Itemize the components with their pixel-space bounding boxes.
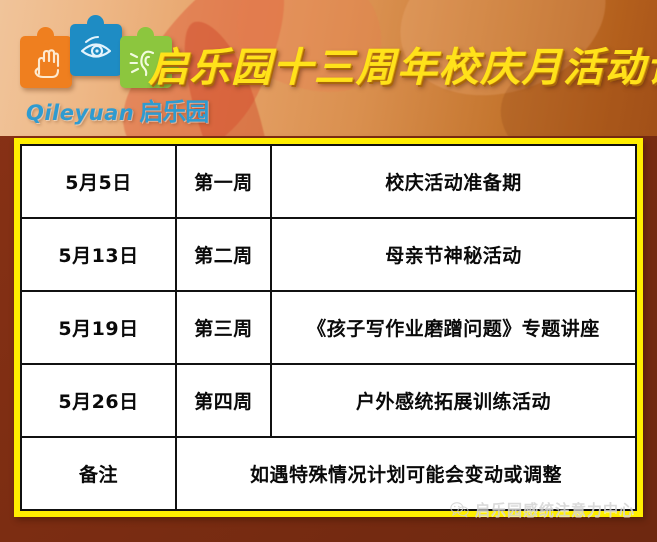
brand-logo: Qileyuan启乐园 xyxy=(8,14,188,126)
table-row: 5月13日 第二周 母亲节神秘活动 xyxy=(21,218,636,291)
hand-icon xyxy=(20,36,72,88)
cell-week: 第四周 xyxy=(176,364,271,437)
logo-wordmark: Qileyuan启乐园 xyxy=(26,92,208,127)
cell-date: 5月5日 xyxy=(21,145,176,218)
header-banner: Qileyuan启乐园 启乐园十三周年校庆月活动计划 xyxy=(0,0,657,136)
eye-icon xyxy=(70,24,122,76)
cell-week: 第三周 xyxy=(176,291,271,364)
cell-week: 第一周 xyxy=(176,145,271,218)
puzzle-piece-ear xyxy=(120,36,172,88)
puzzle-piece-hand xyxy=(20,36,72,88)
logo-latin-name: Qileyuan xyxy=(26,101,134,125)
cell-date: 5月13日 xyxy=(21,218,176,291)
table-row: 5月26日 第四周 户外感统拓展训练活动 xyxy=(21,364,636,437)
cell-week: 第二周 xyxy=(176,218,271,291)
cell-activity: 母亲节神秘活动 xyxy=(271,218,636,291)
cell-note-text: 如遇特殊情况计划可能会变动或调整 xyxy=(176,437,636,510)
table-row: 5月5日 第一周 校庆活动准备期 xyxy=(21,145,636,218)
puzzle-piece-eye xyxy=(70,24,122,76)
schedule-table: 5月5日 第一周 校庆活动准备期 5月13日 第二周 母亲节神秘活动 5月19日… xyxy=(20,144,637,511)
cell-date: 5月26日 xyxy=(21,364,176,437)
page-title: 启乐园十三周年校庆月活动计划 xyxy=(148,32,653,96)
cell-note-label: 备注 xyxy=(21,437,176,510)
cell-activity: 户外感统拓展训练活动 xyxy=(271,364,636,437)
table-row-note: 备注 如遇特殊情况计划可能会变动或调整 xyxy=(21,437,636,510)
cell-activity: 《孩子写作业磨蹭问题》专题讲座 xyxy=(271,291,636,364)
ear-icon xyxy=(120,36,172,88)
logo-chinese-name: 启乐园 xyxy=(139,98,208,126)
cell-date: 5月19日 xyxy=(21,291,176,364)
poster-root: Qileyuan启乐园 启乐园十三周年校庆月活动计划 5月5日 第一周 校庆活动… xyxy=(0,0,657,542)
table-row: 5月19日 第三周 《孩子写作业磨蹭问题》专题讲座 xyxy=(21,291,636,364)
cell-activity: 校庆活动准备期 xyxy=(271,145,636,218)
table-frame: 5月5日 第一周 校庆活动准备期 5月13日 第二周 母亲节神秘活动 5月19日… xyxy=(14,138,643,517)
